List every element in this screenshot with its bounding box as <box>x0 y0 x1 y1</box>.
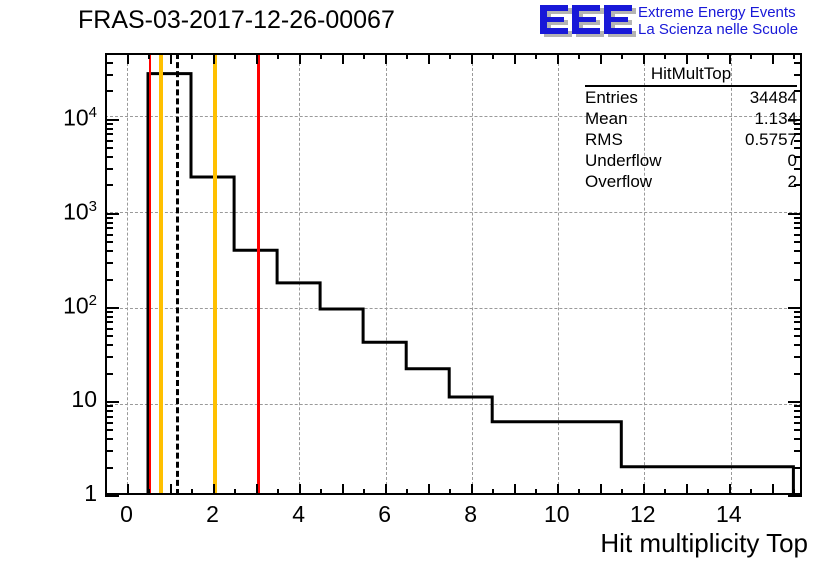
x-tick-top-10.5 <box>578 53 580 59</box>
y-tick-600 <box>105 234 113 236</box>
y-tick-right-9 <box>794 405 802 407</box>
y-tick-100 <box>105 307 119 309</box>
stats-key-mean: Mean <box>585 109 628 129</box>
x-tick-label-14: 14 <box>709 501 749 528</box>
y-tick-right-900 <box>794 217 802 219</box>
y-tick-right-60 <box>794 328 802 330</box>
x-tick-12.5 <box>664 489 666 495</box>
y-tick-right-8 <box>794 410 802 412</box>
y-tick-1000 <box>105 213 119 215</box>
x-tick-top-0.5 <box>148 53 150 59</box>
stats-key-rms: RMS <box>585 130 623 150</box>
y-tick-3000 <box>105 168 113 170</box>
x-tick-top-14.5 <box>750 53 752 59</box>
x-tick-2 <box>213 484 215 495</box>
x-tick-7 <box>428 484 430 495</box>
x-tick-top-3.5 <box>277 53 279 59</box>
x-tick-top-2.5 <box>234 53 236 59</box>
stats-value-rms: 0.5757 <box>745 130 797 150</box>
y-tick-right-3 <box>794 450 802 452</box>
x-tick-top-4 <box>299 53 301 64</box>
y-tick-20000 <box>105 90 113 92</box>
y-tick-50 <box>105 335 113 337</box>
x-tick-top-9 <box>514 53 516 64</box>
x-tick-9 <box>514 484 516 495</box>
x-tick-top-11 <box>600 53 602 64</box>
x-tick-top-12.5 <box>664 53 666 59</box>
y-tick-40 <box>105 344 113 346</box>
stats-value-mean: 1.134 <box>754 109 797 129</box>
y-tick-right-20 <box>794 373 802 375</box>
x-tick-5.5 <box>363 489 365 495</box>
root-canvas: FRAS-03-2017-12-26-00067 Extreme Energy … <box>0 0 836 572</box>
y-tick-200 <box>105 279 113 281</box>
x-tick-top-15 <box>772 53 774 64</box>
x-tick-8.5 <box>492 489 494 495</box>
x-tick-4.5 <box>320 489 322 495</box>
x-tick-top-9.5 <box>535 53 537 59</box>
y-tick-label-1000: 103 <box>27 198 97 226</box>
y-tick-right-50000 <box>794 53 802 55</box>
y-tick-right-400 <box>794 250 802 252</box>
y-tick-700 <box>105 227 113 229</box>
x-tick-10.5 <box>578 489 580 495</box>
y-tick-right-800 <box>794 222 802 224</box>
y-tick-right-5 <box>794 429 802 431</box>
x-tick-top-6.5 <box>406 53 408 59</box>
stats-title: HitMultTop <box>585 64 797 87</box>
y-tick-right-200 <box>794 279 802 281</box>
y-tick-400 <box>105 250 113 252</box>
y-tick-3 <box>105 450 113 452</box>
y-tick-50000 <box>105 53 113 55</box>
x-tick-top-11.5 <box>621 53 623 59</box>
x-tick-top-1 <box>170 53 172 64</box>
y-tick-9000 <box>105 123 113 125</box>
stats-row-overflow: Overflow 2 <box>585 171 797 192</box>
x-tick-2.5 <box>234 489 236 495</box>
y-tick-9 <box>105 405 113 407</box>
y-tick-7000 <box>105 133 113 135</box>
x-tick-1 <box>170 484 172 495</box>
y-tick-2 <box>105 467 113 469</box>
stats-key-entries: Entries <box>585 88 638 108</box>
y-tick-500 <box>105 241 113 243</box>
x-tick-3.5 <box>277 489 279 495</box>
y-tick-70 <box>105 321 113 323</box>
y-tick-6 <box>105 422 113 424</box>
x-tick-top-12 <box>643 53 645 64</box>
y-tick-right-1 <box>788 495 802 497</box>
y-tick-right-7 <box>794 416 802 418</box>
stats-box: HitMultTop Entries 34484 Mean 1.134 RMS … <box>585 64 797 192</box>
eee-logo-line2: La Scienza nelle Scuole <box>638 21 798 38</box>
stats-row-entries: Entries 34484 <box>585 87 797 108</box>
y-tick-6000 <box>105 140 113 142</box>
x-tick-label-2: 2 <box>193 501 233 528</box>
y-tick-right-6 <box>794 422 802 424</box>
eee-logo-mark <box>538 3 638 41</box>
y-tick-right-600 <box>794 234 802 236</box>
y-tick-right-40 <box>794 344 802 346</box>
x-tick-top-14 <box>729 53 731 64</box>
x-tick-top-13.5 <box>707 53 709 59</box>
x-tick-11.5 <box>621 489 623 495</box>
y-tick-8 <box>105 410 113 412</box>
x-tick-0.5 <box>148 489 150 495</box>
x-tick-top-6 <box>385 53 387 64</box>
x-tick-label-10: 10 <box>537 501 577 528</box>
y-tick-90 <box>105 311 113 313</box>
x-tick-13 <box>686 484 688 495</box>
page-title: FRAS-03-2017-12-26-00067 <box>78 6 395 35</box>
eee-logo: Extreme Energy Events La Scienza nelle S… <box>538 3 834 45</box>
stats-value-overflow: 2 <box>788 172 797 192</box>
y-tick-label-10: 10 <box>27 386 97 413</box>
y-tick-4 <box>105 438 113 440</box>
y-tick-2000 <box>105 184 113 186</box>
y-tick-label-100: 102 <box>27 292 97 320</box>
x-tick-0 <box>127 484 129 495</box>
x-tick-top-3 <box>256 53 258 64</box>
x-tick-label-0: 0 <box>107 501 147 528</box>
x-tick-top-0 <box>127 53 129 64</box>
x-tick-label-12: 12 <box>623 501 663 528</box>
x-tick-top-4.5 <box>320 53 322 59</box>
y-tick-right-2 <box>794 467 802 469</box>
y-tick-label-10000: 104 <box>27 104 97 132</box>
y-tick-right-80 <box>794 316 802 318</box>
x-tick-top-5 <box>342 53 344 64</box>
x-tick-top-7.5 <box>449 53 451 59</box>
y-tick-4000 <box>105 156 113 158</box>
y-tick-right-1000 <box>788 213 802 215</box>
x-axis-title: Hit multiplicity Top <box>600 528 808 559</box>
x-tick-label-8: 8 <box>451 501 491 528</box>
x-tick-top-8.5 <box>492 53 494 59</box>
x-tick-top-1.5 <box>191 53 193 59</box>
x-tick-6 <box>385 484 387 495</box>
x-tick-15 <box>772 484 774 495</box>
y-tick-900 <box>105 217 113 219</box>
x-tick-top-13 <box>686 53 688 64</box>
y-tick-right-50 <box>794 335 802 337</box>
y-tick-label-1: 1 <box>27 480 97 507</box>
y-tick-7 <box>105 416 113 418</box>
x-tick-14.5 <box>750 489 752 495</box>
x-tick-3 <box>256 484 258 495</box>
y-tick-right-30 <box>794 356 802 358</box>
stats-key-overflow: Overflow <box>585 172 652 192</box>
y-tick-right-90 <box>794 311 802 313</box>
y-tick-right-10 <box>788 401 802 403</box>
y-tick-right-500 <box>794 241 802 243</box>
y-tick-1 <box>105 495 119 497</box>
y-tick-40000 <box>105 62 113 64</box>
x-tick-13.5 <box>707 489 709 495</box>
x-tick-top-5.5 <box>363 53 365 59</box>
y-tick-10 <box>105 401 119 403</box>
x-tick-1.5 <box>191 489 193 495</box>
x-tick-7.5 <box>449 489 451 495</box>
x-tick-12 <box>643 484 645 495</box>
y-tick-20 <box>105 373 113 375</box>
x-tick-5 <box>342 484 344 495</box>
stats-value-underflow: 0 <box>788 151 797 171</box>
x-tick-14 <box>729 484 731 495</box>
x-tick-top-7 <box>428 53 430 64</box>
eee-logo-line1: Extreme Energy Events <box>638 4 798 21</box>
stats-row-rms: RMS 0.5757 <box>585 129 797 150</box>
x-tick-9.5 <box>535 489 537 495</box>
x-tick-10 <box>557 484 559 495</box>
x-tick-label-6: 6 <box>365 501 405 528</box>
eee-logo-text: Extreme Energy Events La Scienza nelle S… <box>638 4 798 38</box>
y-tick-60 <box>105 328 113 330</box>
stats-row-underflow: Underflow 0 <box>585 150 797 171</box>
y-tick-8000 <box>105 128 113 130</box>
y-tick-800 <box>105 222 113 224</box>
stats-key-underflow: Underflow <box>585 151 662 171</box>
y-tick-5000 <box>105 147 113 149</box>
y-tick-right-4 <box>794 438 802 440</box>
x-tick-6.5 <box>406 489 408 495</box>
x-tick-11 <box>600 484 602 495</box>
x-tick-4 <box>299 484 301 495</box>
y-tick-300 <box>105 262 113 264</box>
y-tick-right-700 <box>794 227 802 229</box>
x-tick-top-8 <box>471 53 473 64</box>
y-tick-30000 <box>105 74 113 76</box>
x-tick-8 <box>471 484 473 495</box>
y-tick-right-70 <box>794 321 802 323</box>
x-tick-label-4: 4 <box>279 501 319 528</box>
y-tick-right-100 <box>788 307 802 309</box>
stats-value-entries: 34484 <box>750 88 797 108</box>
y-tick-right-300 <box>794 262 802 264</box>
x-tick-top-2 <box>213 53 215 64</box>
y-tick-10000 <box>105 119 119 121</box>
x-tick-top-10 <box>557 53 559 64</box>
y-tick-30 <box>105 356 113 358</box>
y-tick-5 <box>105 429 113 431</box>
y-tick-80 <box>105 316 113 318</box>
stats-row-mean: Mean 1.134 <box>585 108 797 129</box>
